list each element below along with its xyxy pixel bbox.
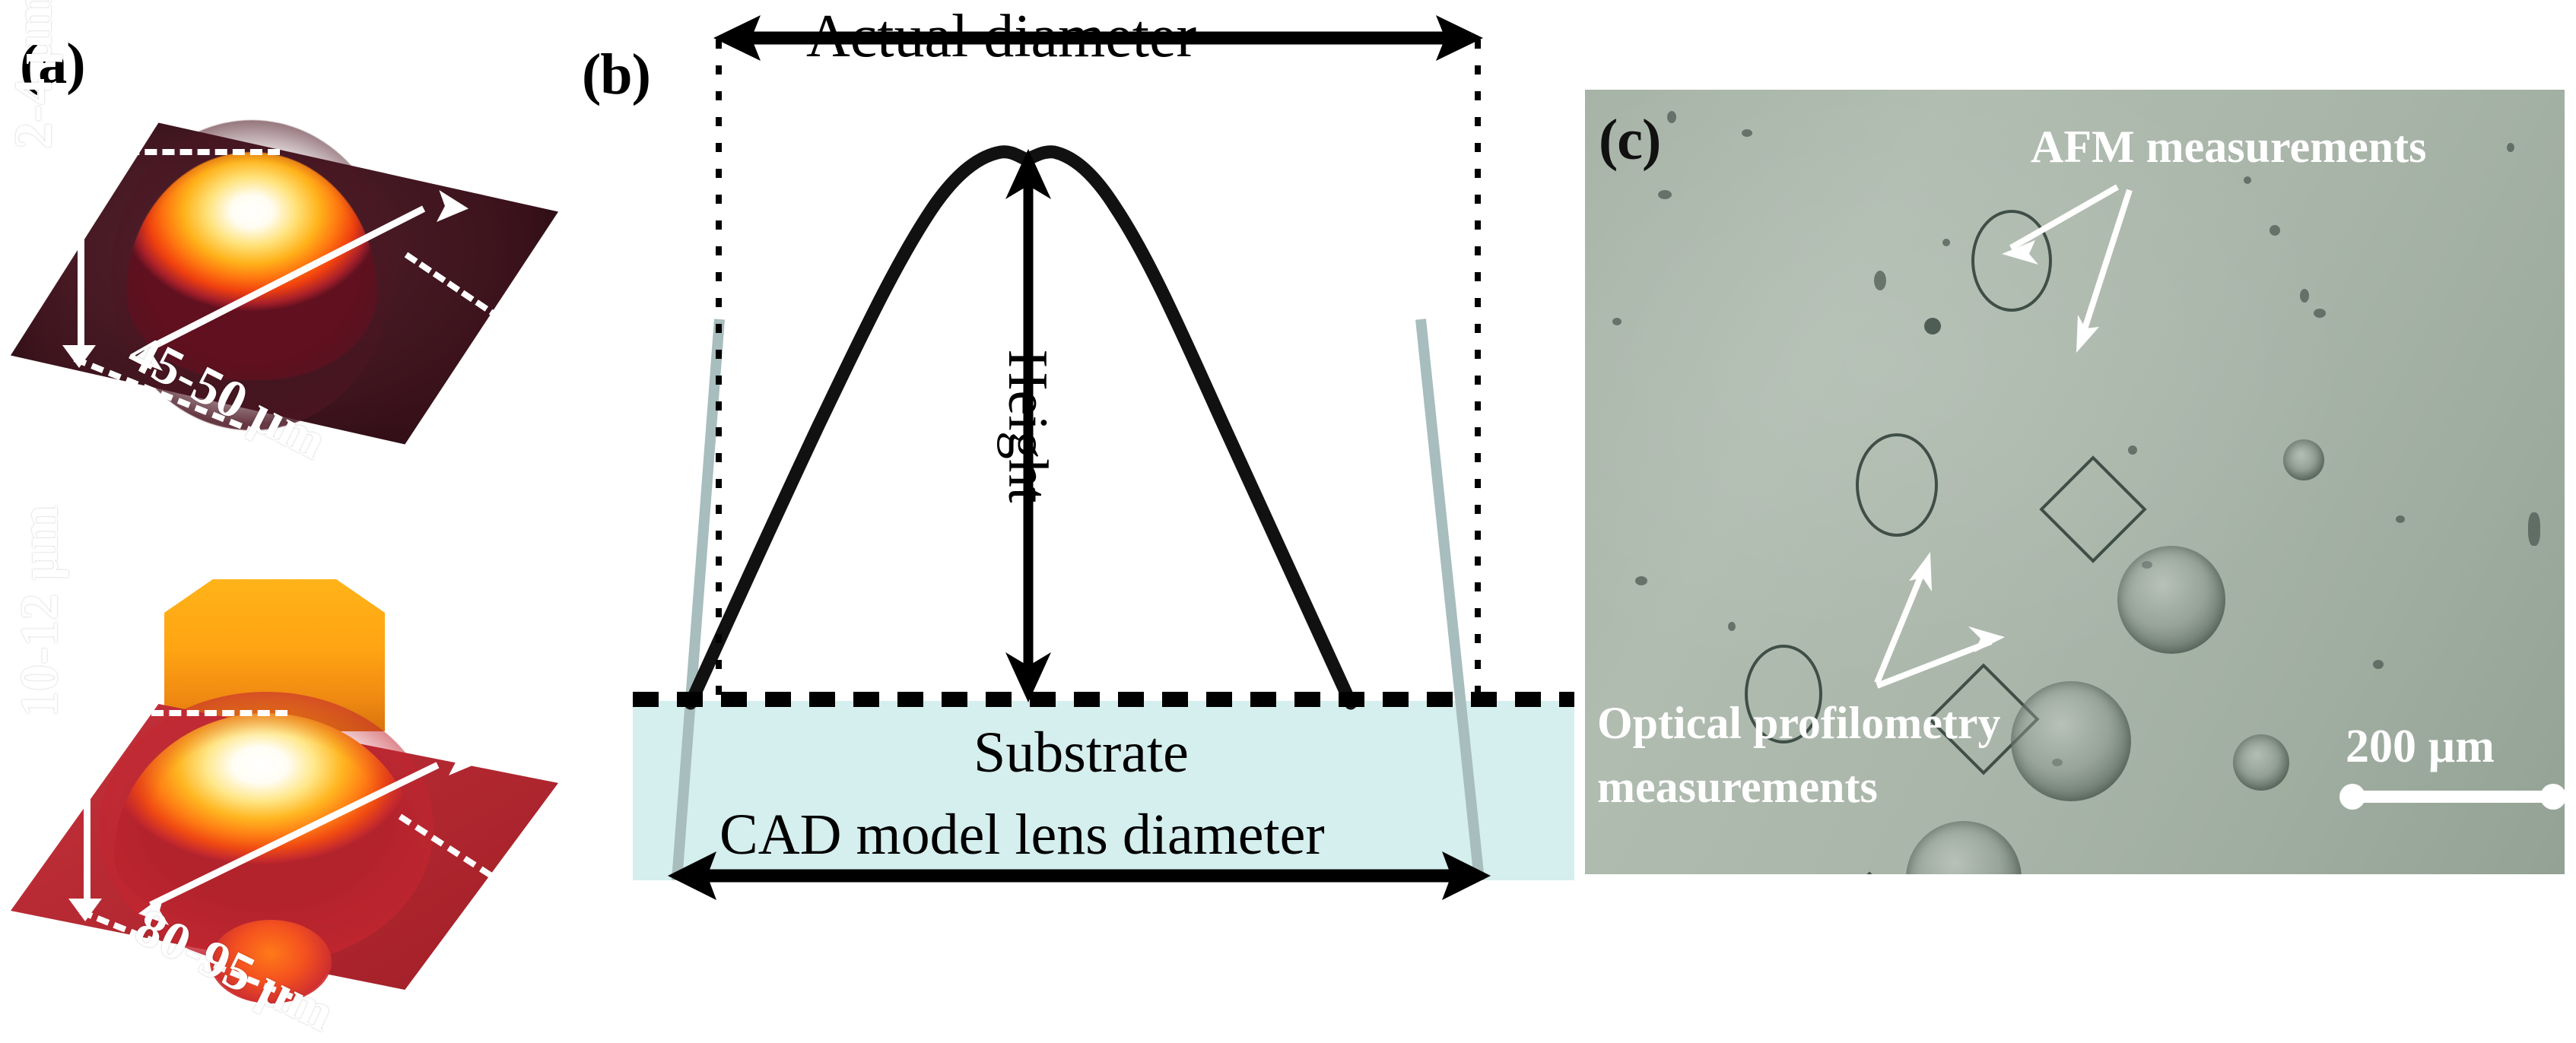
scale-bar	[2346, 791, 2560, 803]
substrate-label: Substrate	[974, 724, 1189, 781]
optical-arrow-head-large-lens	[1909, 552, 1932, 591]
height-arrow-shaft-small	[78, 157, 84, 351]
panel-b-diagram	[578, 0, 1574, 1037]
large-lens-afm-scan	[11, 563, 558, 1019]
height-arrow-head-down-large	[68, 899, 102, 921]
cad-lens-left-wall	[677, 319, 719, 880]
panel-b: (b) A	[578, 0, 1574, 1037]
height-arrow-head-up-large	[68, 699, 102, 722]
optical-profilometry-label-line2: measurements	[1597, 762, 1878, 813]
figure-root: (a) 2-4 µm 45-50 µm	[0, 0, 2576, 1037]
panel-a: (a) 2-4 µm 45-50 µm	[0, 0, 578, 1037]
optical-profilometry-label-line1: Optical profilometry	[1597, 698, 2000, 749]
large-lens-height-label: 10-12 µm	[14, 506, 67, 718]
actual-diameter-label: Actual diameter	[806, 6, 1196, 67]
panel-c-label: (c)	[1599, 111, 1660, 169]
afm-arrow-to-diamond	[2081, 190, 2130, 341]
panel-c: (c) AFM measurements Optical profilometr…	[1585, 90, 2565, 874]
height-label: Height	[999, 350, 1056, 502]
small-lens-height-label: 2-4 µm	[8, 0, 61, 149]
scale-bar-label: 200 µm	[2346, 721, 2495, 773]
dash-guide-top-large	[81, 710, 287, 716]
cad-lens-right-wall	[1421, 319, 1479, 880]
height-arrow-head-up-small	[62, 138, 96, 161]
cad-model-lens-diameter-label: CAD model lens diameter	[719, 806, 1325, 864]
afm-measurements-label: AFM measurements	[2031, 122, 2426, 173]
optical-arrow-to-large-lens	[1877, 564, 1926, 683]
afm-arrow-to-circle	[2011, 187, 2117, 248]
height-arrow-shaft-large	[84, 718, 91, 905]
height-arrow-head-down-small	[62, 345, 96, 368]
dash-guide-top-small	[75, 149, 280, 155]
